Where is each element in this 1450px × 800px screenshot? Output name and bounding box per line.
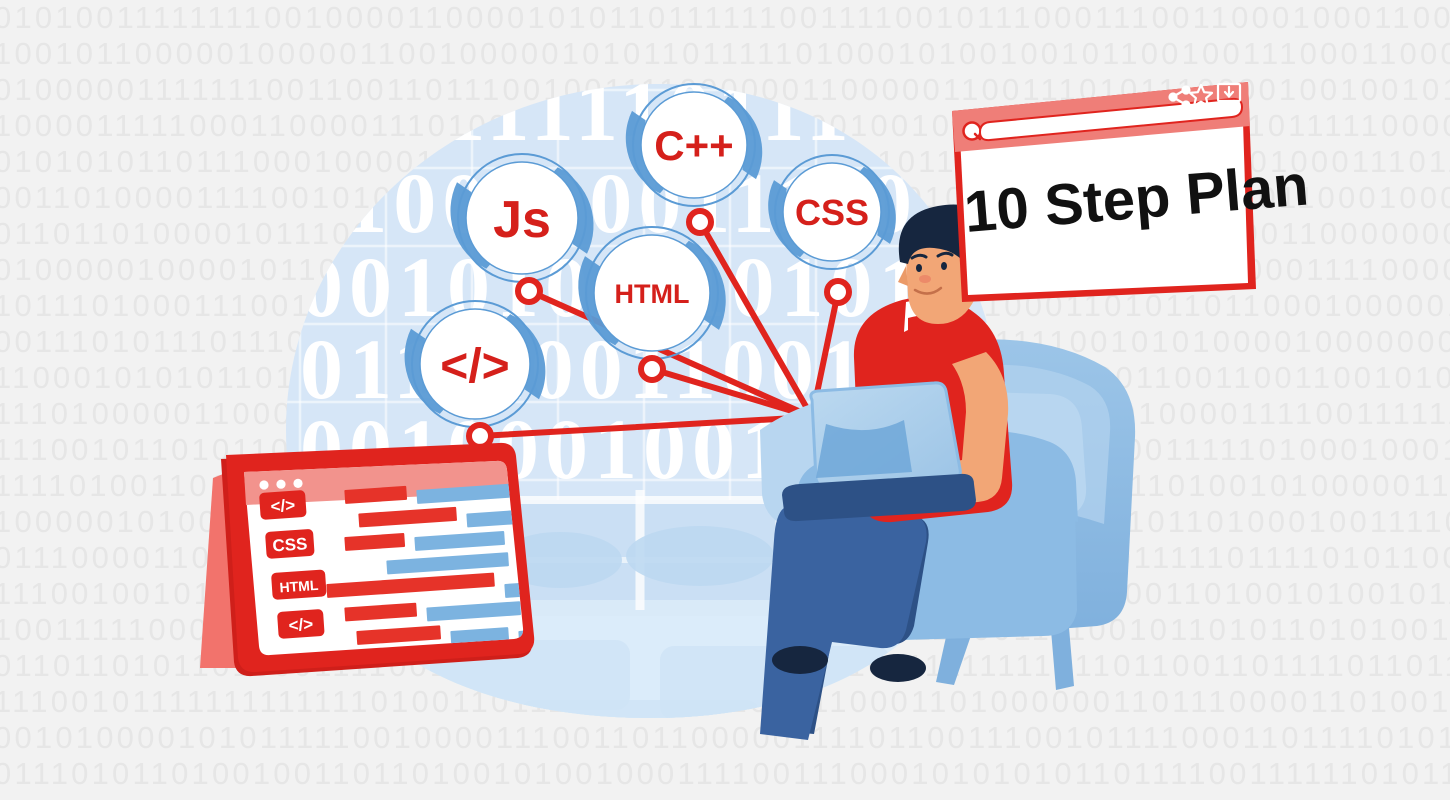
svg-text:100101100000100000110010000010: 1001011000001000001100100000101011011111…: [0, 36, 1450, 71]
language-tag-label: HTML: [279, 577, 319, 596]
language-tag[interactable]: CSS: [265, 529, 315, 559]
window-dot: [276, 480, 285, 489]
eye-right: [941, 262, 947, 270]
eye-left: [916, 264, 922, 272]
svg-text:011101011010010011011010010100: 0111010110100100110110100101001000111100…: [0, 756, 1450, 791]
language-tag-label: </>: [288, 615, 314, 636]
tech-badge-label: C++: [654, 122, 733, 169]
language-tag[interactable]: HTML: [271, 569, 327, 600]
illustration-canvas: 0101001111111100100001100001010110111111…: [0, 0, 1450, 800]
svg-text:010100111111110010000110000101: 0101001111111100100001100001010110111111…: [0, 0, 1450, 35]
svg-text:001010000101011111001000011100: 0010100001010111110010000111001101100000…: [0, 720, 1450, 755]
window-dot: [259, 480, 268, 489]
node-html[interactable]: [641, 358, 663, 380]
cheek: [919, 275, 931, 283]
language-tag-label: </>: [270, 496, 296, 517]
tech-badge-label: HTML: [615, 279, 690, 309]
window-dot: [293, 479, 302, 488]
language-tag[interactable]: </>: [259, 490, 307, 520]
tech-badge-label: Js: [493, 191, 551, 249]
shoe-left: [772, 646, 828, 674]
node-cpp[interactable]: [689, 211, 711, 233]
language-tag[interactable]: </>: [277, 609, 325, 639]
node-js[interactable]: [518, 280, 540, 302]
tech-badge-label: CSS: [795, 192, 869, 233]
tech-badge-label: </>: [440, 340, 509, 393]
node-css[interactable]: [827, 281, 849, 303]
language-tag-label: CSS: [272, 534, 308, 555]
shoe-right: [870, 654, 926, 682]
